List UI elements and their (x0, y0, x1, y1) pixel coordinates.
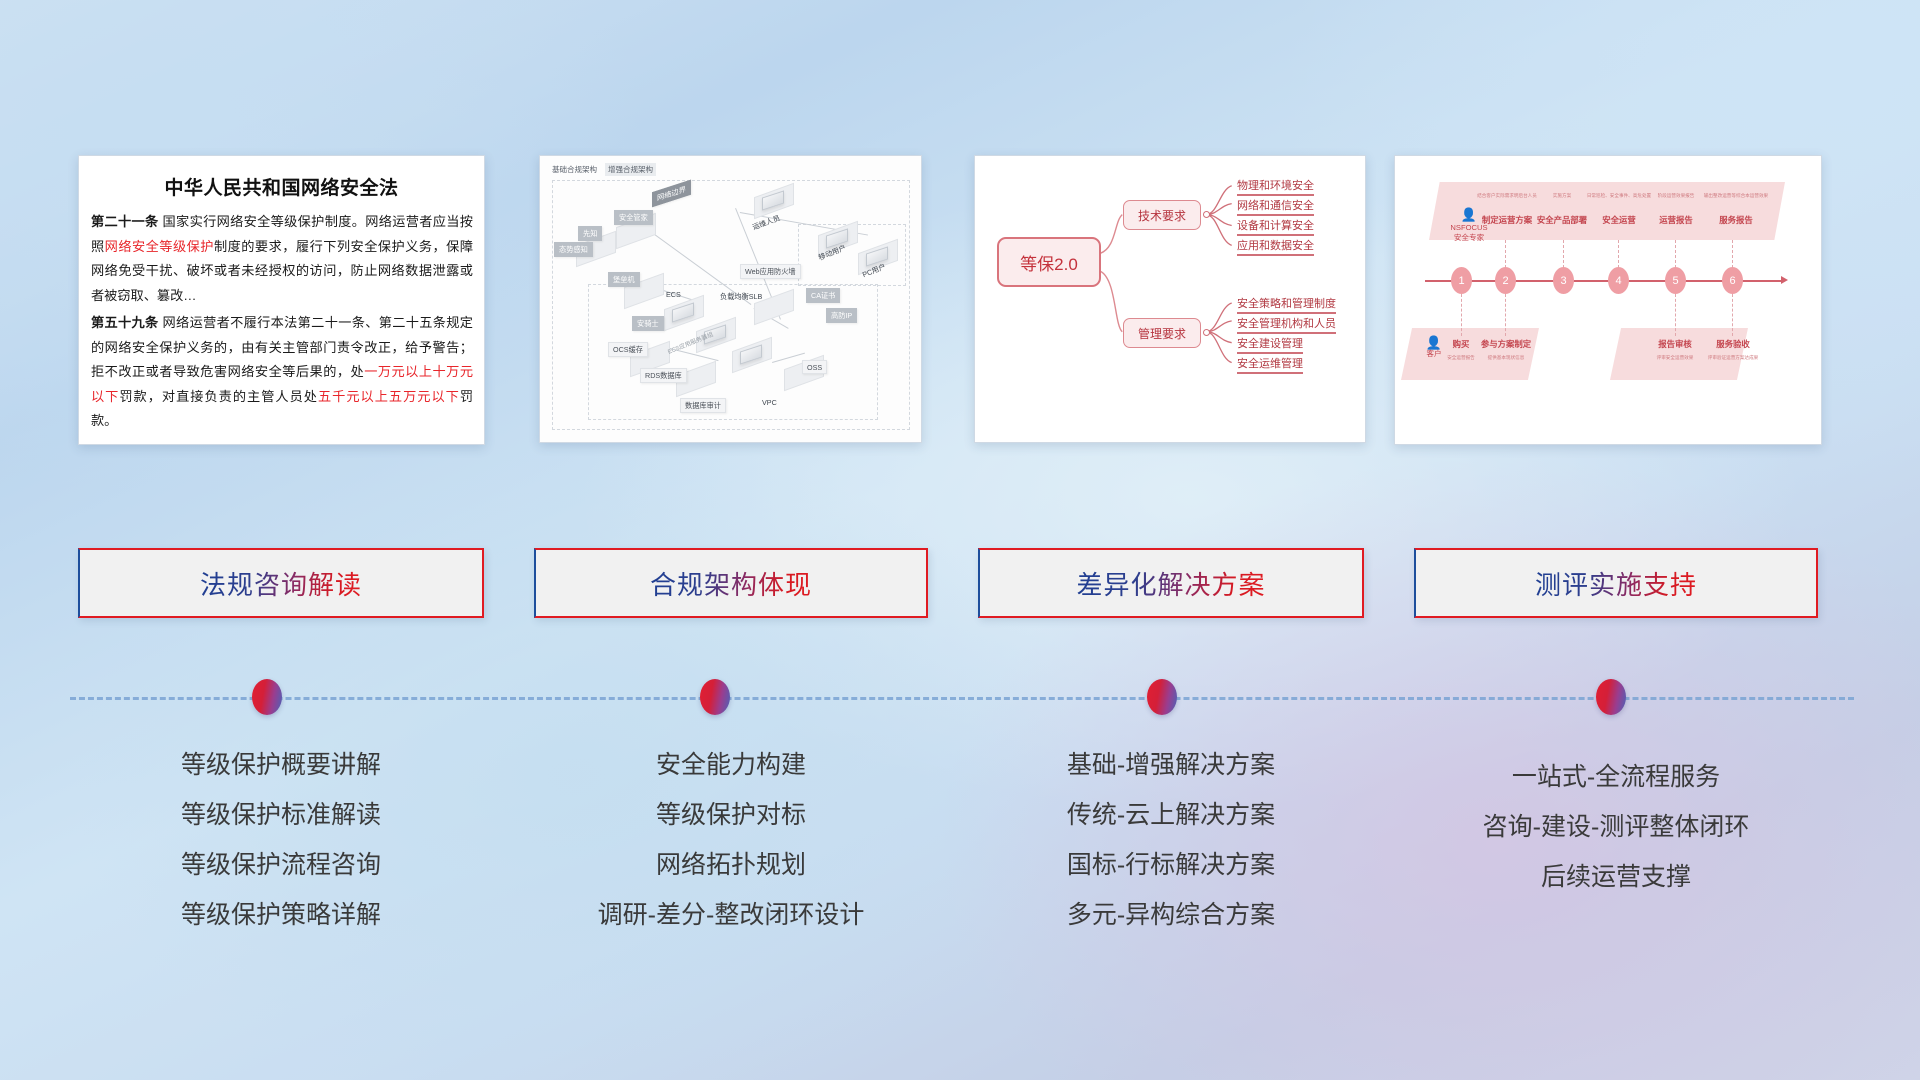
roadmap-axis-arrow-icon (1781, 276, 1788, 284)
card-dengbao-mindmap[interactable]: 等保2.0 技术要求 物理和环境安全 网络和通信安全 设备和计算安全 应用和数据… (974, 155, 1366, 443)
image-cards-row: 中华人民共和国网络安全法 第二十一条 国家实行网络安全等级保护制度。网络运营者应… (0, 155, 1920, 450)
pillar-title: 法规咨询解读 (200, 565, 362, 602)
bullet-list-compliance-architecture: 安全能力构建 等级保护对标 网络拓扑规划 调研-差分-整改闭环设计 (534, 740, 928, 940)
arch-tab-enhanced[interactable]: 增强合规架构 (605, 163, 656, 176)
roadmap-connector (1618, 240, 1619, 268)
mindmap-branch-management[interactable]: 管理要求 (1123, 318, 1201, 348)
roadmap-diagram: 👤 NSFOCUS 安全专家 👤 客户 (1395, 156, 1821, 444)
mindmap-leaf: 安全建设管理 (1237, 335, 1303, 354)
mindmap-leaf: 安全管理机构和人员 (1237, 315, 1336, 334)
roadmap-bottom-sub: 提供基本现状信息 (1475, 355, 1537, 361)
mindmap-expander-icon[interactable] (1203, 211, 1210, 218)
bullet-item: 多元-异构综合方案 (978, 890, 1364, 940)
pillar-title: 合规架构体现 (650, 565, 812, 602)
roadmap-bottom-title: 参与方案制定 (1477, 338, 1535, 350)
roadmap-connector (1732, 294, 1733, 336)
roadmap-connector (1461, 294, 1462, 336)
bullet-item: 后续运营支撑 (1414, 852, 1818, 902)
mindmap-root-node[interactable]: 等保2.0 (997, 237, 1101, 287)
pillar-box-differentiated-solutions[interactable]: 差异化解决方案 (978, 548, 1364, 618)
roadmap-step-node[interactable]: 2 (1495, 267, 1516, 294)
bullet-item: 基础-增强解决方案 (978, 740, 1364, 790)
arch-node-security-butler: 安全管家 (614, 210, 653, 225)
roadmap-connector (1732, 240, 1733, 268)
bullet-item: 等级保护标准解读 (78, 790, 484, 840)
timeline-dot[interactable] (1147, 679, 1177, 715)
roadmap-step-node[interactable]: 1 (1451, 267, 1472, 294)
bullet-list-assessment-support: 一站式-全流程服务 咨询-建设-测评整体闭环 后续运营支撑 (1414, 752, 1818, 902)
roadmap-connector (1675, 294, 1676, 336)
mindmap-leaf: 安全运维管理 (1237, 355, 1303, 374)
arch-node-oss: OSS (802, 360, 827, 374)
mindmap-expander-icon[interactable] (1203, 329, 1210, 336)
timeline-dashed-line (70, 697, 1854, 700)
pillar-title: 测评实施支持 (1535, 565, 1697, 602)
pillar-box-regulatory-consulting[interactable]: 法规咨询解读 (78, 548, 484, 618)
mindmap-leaf: 安全策略和管理制度 (1237, 295, 1336, 314)
slide-canvas: 中华人民共和国网络安全法 第二十一条 国家实行网络安全等级保护制度。网络运营者应… (0, 0, 1920, 1080)
arch-node-slb: 负载均衡SLB (720, 292, 762, 302)
roadmap-connector (1505, 294, 1506, 336)
roadmap-bottom-title: 报告审核 (1649, 338, 1701, 350)
mindmap-leaf: 应用和数据安全 (1237, 237, 1314, 256)
mindmap-leaf: 设备和计算安全 (1237, 217, 1314, 236)
mindmap-leaf: 网络和通信安全 (1237, 197, 1314, 216)
bullet-item: 咨询-建设-测评整体闭环 (1414, 802, 1818, 852)
card-cloud-architecture[interactable]: 基础合规架构 增强合规架构 (539, 155, 922, 443)
arch-node-situation-awareness: 态势感知 (554, 242, 593, 257)
roadmap-step-node[interactable]: 6 (1722, 267, 1743, 294)
bullet-item: 等级保护策略详解 (78, 890, 484, 940)
roadmap-bottom-sub: 评审安全运营效果 (1645, 355, 1705, 361)
bullet-list-differentiated-solutions: 基础-增强解决方案 传统-云上解决方案 国标-行标解决方案 多元-异构综合方案 (978, 740, 1364, 940)
arch-node-ecs: ECS (666, 290, 681, 299)
pillar-box-compliance-architecture[interactable]: 合规架构体现 (534, 548, 928, 618)
bullet-item: 调研-差分-整改闭环设计 (534, 890, 928, 940)
roadmap-bottom-title: 购买 (1441, 338, 1481, 350)
roadmap-lane-customer-right (1610, 328, 1748, 380)
bullet-item: 网络拓扑规划 (534, 840, 928, 890)
bullet-item: 等级保护概要讲解 (78, 740, 484, 790)
arch-node-xianzhi: 先知 (578, 226, 602, 241)
arch-node-ocs-cache: OCS缓存 (608, 342, 648, 357)
bullet-item: 等级保护流程咨询 (78, 840, 484, 890)
roadmap-connector (1675, 240, 1676, 268)
arch-node-anqishi: 安骑士 (632, 316, 664, 331)
article-59-label: 第五十九条 (91, 315, 159, 330)
article-59-highlight-2: 五千元以上五万元以下 (318, 389, 460, 404)
bullet-item: 一站式-全流程服务 (1414, 752, 1818, 802)
arch-node-anti-ddos-ip: 高防IP (826, 308, 857, 323)
mindmap-branch-technical[interactable]: 技术要求 (1123, 200, 1201, 230)
roadmap-step-node[interactable]: 3 (1553, 267, 1574, 294)
law-article-21: 第二十一条 国家实行网络安全等级保护制度。网络运营者应当按照网络安全等级保护制度… (91, 210, 473, 308)
article-59-part2: 罚款，对直接负责的主管人员处 (119, 389, 318, 404)
bullet-item: 安全能力构建 (534, 740, 928, 790)
arch-tab-basic[interactable]: 基础合规架构 (549, 163, 600, 176)
arch-node-waf: Web应用防火墙 (740, 264, 801, 279)
bullet-list-regulatory-consulting: 等级保护概要讲解 等级保护标准解读 等级保护流程咨询 等级保护策略详解 (78, 740, 484, 940)
arch-node-db-audit: 数据库审计 (680, 398, 726, 413)
roadmap-connector (1505, 240, 1506, 268)
roadmap-bottom-title: 服务验收 (1707, 338, 1759, 350)
timeline-dot[interactable] (252, 679, 282, 715)
law-body: 第二十一条 国家实行网络安全等级保护制度。网络运营者应当按照网络安全等级保护制度… (79, 210, 484, 434)
arch-node-ca-cert: CA证书 (806, 288, 840, 303)
timeline-dot[interactable] (1596, 679, 1626, 715)
arch-node-rds: RDS数据库 (640, 368, 687, 383)
pillar-title: 差异化解决方案 (1076, 565, 1265, 602)
arch-node-bastion: 堡垒机 (608, 272, 640, 287)
card-cybersecurity-law[interactable]: 中华人民共和国网络安全法 第二十一条 国家实行网络安全等级保护制度。网络运营者应… (78, 155, 485, 445)
roadmap-step-title: 服务报告 (1695, 214, 1777, 226)
roadmap-step-node[interactable]: 4 (1608, 267, 1629, 294)
roadmap-step-node[interactable]: 5 (1665, 267, 1686, 294)
card-nsfocus-roadmap[interactable]: 👤 NSFOCUS 安全专家 👤 客户 (1394, 155, 1822, 445)
roadmap-step-sub: 输出整改运营等综合本运营效果 (1693, 193, 1779, 199)
law-title: 中华人民共和国网络安全法 (79, 173, 484, 200)
roadmap-bottom-sub: 评审验证运营方案达成果 (1701, 355, 1765, 361)
roadmap-connector (1563, 240, 1564, 268)
timeline-dot[interactable] (700, 679, 730, 715)
bullet-item: 传统-云上解决方案 (978, 790, 1364, 840)
architecture-tabs[interactable]: 基础合规架构 增强合规架构 (549, 163, 656, 176)
pillar-box-assessment-support[interactable]: 测评实施支持 (1414, 548, 1818, 618)
article-21-highlight: 网络安全等级保护 (105, 239, 214, 254)
architecture-diagram: 基础合规架构 增强合规架构 (540, 156, 921, 442)
arch-node-vpc: VPC (762, 398, 777, 407)
mindmap: 等保2.0 技术要求 物理和环境安全 网络和通信安全 设备和计算安全 应用和数据… (975, 156, 1365, 442)
article-21-label: 第二十一条 (91, 214, 159, 229)
mindmap-leaf: 物理和环境安全 (1237, 177, 1314, 196)
bullet-item: 等级保护对标 (534, 790, 928, 840)
bullet-item: 国标-行标解决方案 (978, 840, 1364, 890)
law-article-59: 第五十九条 网络运营者不履行本法第二十一条、第二十五条规定的网络安全保护义务的，… (91, 311, 473, 434)
